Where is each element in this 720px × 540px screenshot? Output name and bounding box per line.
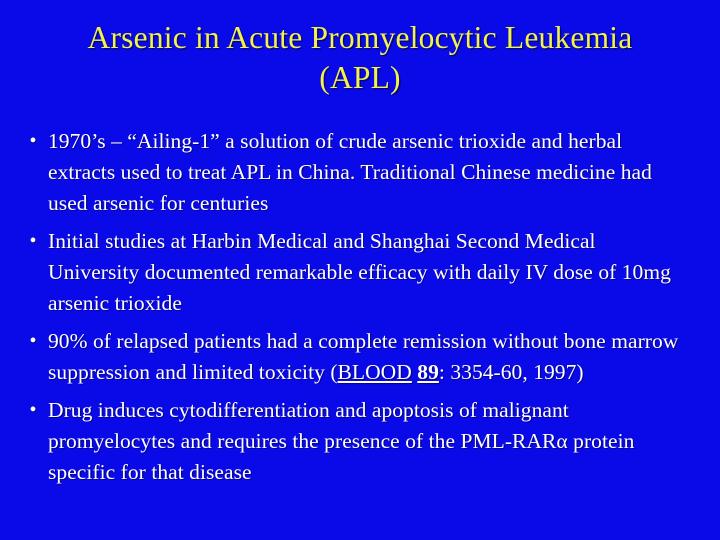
bullet-text-3: 90% of relapsed patients had a complete …: [48, 326, 702, 388]
citation-volume-number: 89: [417, 360, 439, 384]
slide-body: • 1970’s – “Ailing-1” a solution of crud…: [18, 126, 702, 495]
bullet-text-1: 1970’s – “Ailing-1” a solution of crude …: [48, 126, 702, 219]
slide-title-line-1: Arsenic in Acute Promyelocytic Leukemia: [40, 18, 680, 58]
bullet-text-4: Drug induces cytodifferentiation and apo…: [48, 395, 702, 488]
bullet-item-1: • 1970’s – “Ailing-1” a solution of crud…: [18, 126, 702, 219]
bullet-point-icon: •: [18, 126, 48, 157]
slide-title: Arsenic in Acute Promyelocytic Leukemia …: [40, 18, 680, 98]
bullet-item-4: • Drug induces cytodifferentiation and a…: [18, 395, 702, 488]
citation-journal-name: BLOOD: [338, 360, 412, 384]
presentation-slide: Arsenic in Acute Promyelocytic Leukemia …: [0, 0, 720, 540]
bullet-item-2: • Initial studies at Harbin Medical and …: [18, 226, 702, 319]
bullet-point-icon: •: [18, 395, 48, 426]
citation-pages-year: : 3354-60, 1997): [439, 360, 584, 384]
slide-title-line-2: (APL): [40, 58, 680, 98]
bullet-point-icon: •: [18, 226, 48, 257]
bullet-item-3: • 90% of relapsed patients had a complet…: [18, 326, 702, 388]
bullet-point-icon: •: [18, 326, 48, 357]
bullet-text-2: Initial studies at Harbin Medical and Sh…: [48, 226, 702, 319]
